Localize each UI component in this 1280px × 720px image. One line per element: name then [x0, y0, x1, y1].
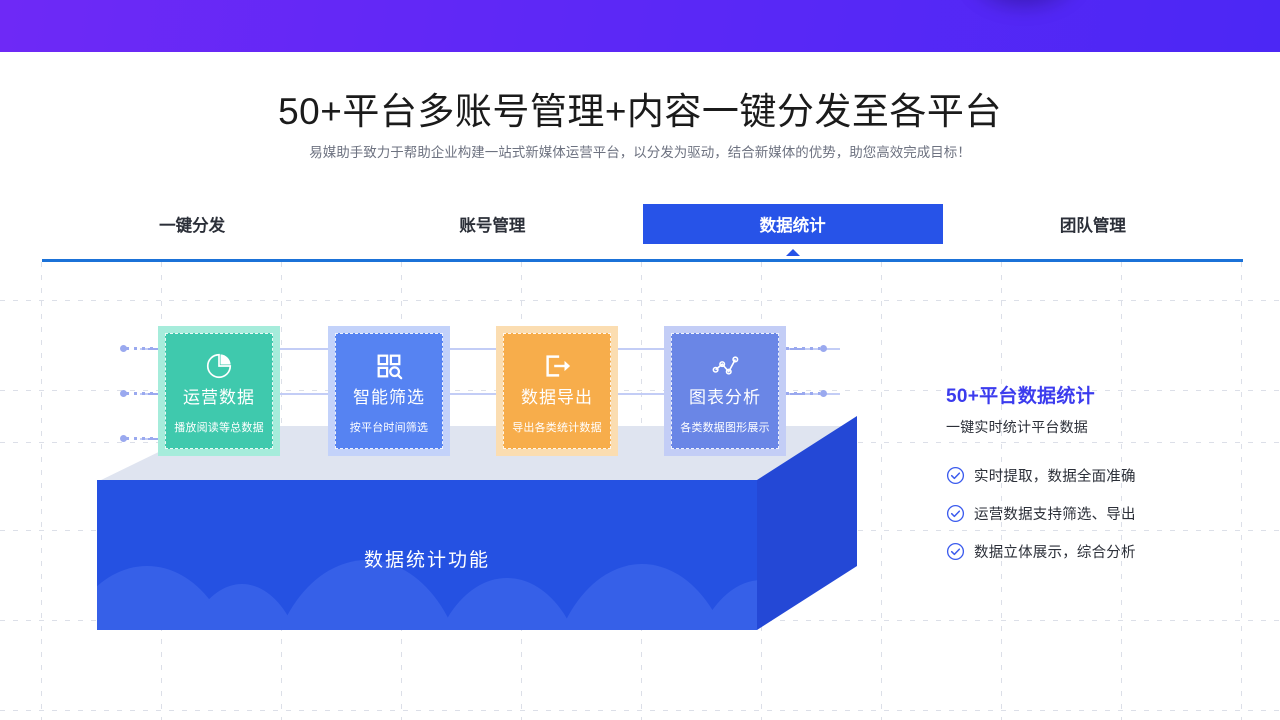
top-banner-bar	[0, 0, 1280, 52]
tab-team-management[interactable]: 团队管理	[943, 204, 1243, 244]
card-description: 按平台时间筛选	[350, 419, 428, 435]
export-icon	[542, 351, 572, 381]
card-description: 播放阅读等总数据	[174, 419, 264, 435]
panel-heading: 50+平台数据统计	[946, 381, 1246, 408]
tab-account-management[interactable]: 账号管理	[342, 204, 642, 244]
benefit-list: 实时提取，数据全面准确 运营数据支持筛选、导出 数据立体展示，综合分析	[946, 465, 1246, 562]
grid-search-icon	[374, 351, 404, 381]
list-item: 实时提取，数据全面准确	[946, 465, 1246, 486]
card-title: 数据导出	[521, 389, 593, 408]
feature-card-smart-filter[interactable]: 智能筛选 按平台时间筛选	[328, 326, 450, 456]
pie-chart-icon	[204, 351, 234, 381]
info-panel: 50+平台数据统计 一键实时统计平台数据 实时提取，数据全面准确 运营数据支持筛…	[946, 381, 1246, 579]
active-tab-caret-icon	[786, 249, 800, 256]
list-item: 数据立体展示，综合分析	[946, 541, 1246, 562]
tab-label: 账号管理	[459, 212, 525, 236]
tab-label: 数据统计	[760, 212, 826, 236]
check-circle-icon	[946, 504, 965, 523]
page-root: 50+平台多账号管理+内容一键分发至各平台 易媒助手致力于帮助企业构建一站式新媒…	[0, 0, 1280, 720]
connector-dot	[120, 345, 127, 352]
card-title: 图表分析	[689, 389, 761, 408]
tab-data-statistics[interactable]: 数据统计	[643, 204, 943, 244]
check-circle-icon	[946, 466, 965, 485]
banner-blob-decoration	[960, 0, 1088, 18]
line-chart-icon	[710, 351, 740, 381]
connector-dots	[126, 392, 160, 395]
tab-label: 团队管理	[1060, 212, 1126, 236]
connector-dot	[820, 390, 827, 397]
platform-label: 数据统计功能	[97, 545, 757, 572]
connector-dots	[786, 392, 820, 395]
page-title: 50+平台多账号管理+内容一键分发至各平台	[0, 52, 1280, 134]
panel-subheading: 一键实时统计平台数据	[946, 417, 1246, 437]
card-description: 导出各类统计数据	[512, 419, 602, 435]
list-item-label: 数据立体展示，综合分析	[974, 541, 1136, 562]
connector-dot	[120, 390, 127, 397]
feature-card-operational-data[interactable]: 运营数据 播放阅读等总数据	[158, 326, 280, 456]
list-item-label: 实时提取，数据全面准确	[974, 465, 1136, 486]
tab-one-click-distribute[interactable]: 一键分发	[42, 204, 342, 244]
list-item: 运营数据支持筛选、导出	[946, 503, 1246, 524]
check-circle-icon	[946, 542, 965, 561]
feature-card-chart-analysis[interactable]: 图表分析 各类数据图形展示	[664, 326, 786, 456]
feature-card-data-export[interactable]: 数据导出 导出各类统计数据	[496, 326, 618, 456]
hero-section: 50+平台多账号管理+内容一键分发至各平台 易媒助手致力于帮助企业构建一站式新媒…	[0, 52, 1280, 163]
card-title: 运营数据	[183, 389, 255, 408]
page-subtitle: 易媒助手致力于帮助企业构建一站式新媒体运营平台，以分发为驱动，结合新媒体的优势，…	[0, 134, 1280, 163]
connector-dot	[820, 345, 827, 352]
list-item-label: 运营数据支持筛选、导出	[974, 503, 1136, 524]
connector-dots	[786, 347, 820, 350]
card-title: 智能筛选	[353, 389, 425, 408]
card-description: 各类数据图形展示	[680, 419, 770, 435]
tab-label: 一键分发	[159, 212, 225, 236]
tab-bar: 一键分发 账号管理 数据统计 团队管理	[42, 204, 1243, 244]
connector-dots	[126, 347, 160, 350]
